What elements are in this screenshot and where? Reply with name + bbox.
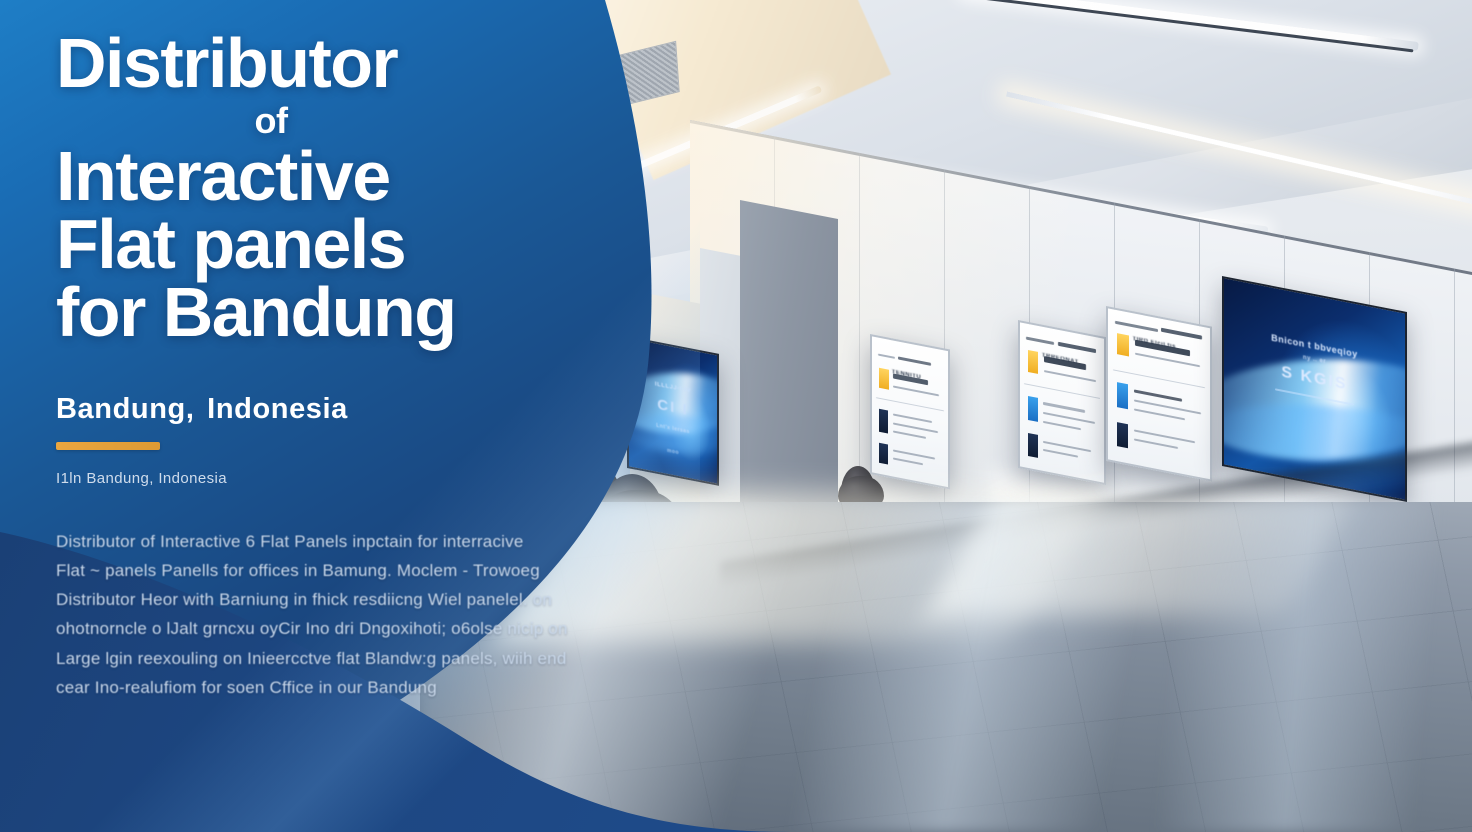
slide-text-line bbox=[893, 430, 926, 438]
slide-text-line bbox=[1134, 408, 1185, 420]
slide-text-line bbox=[1134, 389, 1183, 402]
body-line-2: Flat ~ panels Panells for offices in Bam… bbox=[56, 556, 601, 585]
display-slide-3[interactable]: TIRD ElciLtis bbox=[1106, 306, 1212, 482]
slide-accent-block-dark bbox=[879, 442, 888, 464]
headline-line-2: Interactive bbox=[56, 143, 616, 211]
body-paragraph: Distributor of Interactive 6 Flat Panels… bbox=[56, 527, 601, 702]
location-subtitle: Bandung, Indonesia bbox=[56, 393, 616, 426]
slide-text-line bbox=[1043, 449, 1078, 458]
slide-kicker-line bbox=[1026, 336, 1055, 345]
slide-kicker-line bbox=[1058, 341, 1097, 353]
slide-kicker-line bbox=[898, 356, 931, 365]
slide-text-line bbox=[1043, 402, 1085, 413]
slide-accent-block-yellow bbox=[879, 368, 889, 390]
slide-accent-block-dark bbox=[879, 408, 888, 433]
slide-kicker-line bbox=[1161, 328, 1202, 340]
slide-kicker-line bbox=[878, 354, 895, 359]
page-title: Distributor of Interactive Flat panels f… bbox=[56, 30, 616, 347]
slide-accent-block-dark bbox=[1117, 422, 1128, 448]
slide-text-line bbox=[893, 385, 939, 396]
body-line-4: ohotnorncle o lJalt grncxu oyCir Ino dri… bbox=[56, 614, 601, 643]
marketing-banner: ILLLJJ-I-IV CI I Lnt'x Iersas moo TENNIT… bbox=[0, 0, 1472, 832]
body-line-3: Distributor Heor with Barniung in fhick … bbox=[56, 585, 601, 614]
slide-text-line bbox=[893, 457, 923, 465]
body-line-1: Distributor of Interactive 6 Flat Panels… bbox=[56, 527, 601, 556]
headline-line-1: Distributor bbox=[56, 30, 616, 98]
headline-line-4: for Bandung bbox=[56, 279, 616, 347]
slide-accent-block-yellow bbox=[1117, 333, 1129, 357]
body-line-5: Large lgin reexouling on Inieercctve fla… bbox=[56, 644, 601, 673]
slide-accent-block-yellow bbox=[1028, 350, 1039, 374]
headline-line-3: Flat panels bbox=[56, 211, 616, 279]
slide-accent-block-blue bbox=[1028, 396, 1038, 422]
body-line-6: cear Ino-realufiom for soen Cffice in ou… bbox=[56, 673, 601, 702]
display-slide-2[interactable]: TRREONAT bbox=[1018, 320, 1106, 485]
slide-text-line bbox=[1043, 420, 1082, 430]
slide-accent-block-blue bbox=[1117, 383, 1128, 409]
slide-text-line bbox=[1134, 439, 1179, 450]
slide-text-line bbox=[1044, 370, 1096, 382]
slide-kicker-line bbox=[1115, 320, 1158, 331]
small-location-label: I1ln Bandung, Indonesia bbox=[56, 470, 616, 487]
text-content-block: Distributor of Interactive Flat panels f… bbox=[56, 30, 616, 702]
slide-text-line bbox=[893, 414, 933, 424]
slide-accent-block-dark bbox=[1028, 433, 1038, 458]
slide-text-line bbox=[1135, 353, 1200, 368]
gold-accent-bar bbox=[56, 442, 160, 450]
